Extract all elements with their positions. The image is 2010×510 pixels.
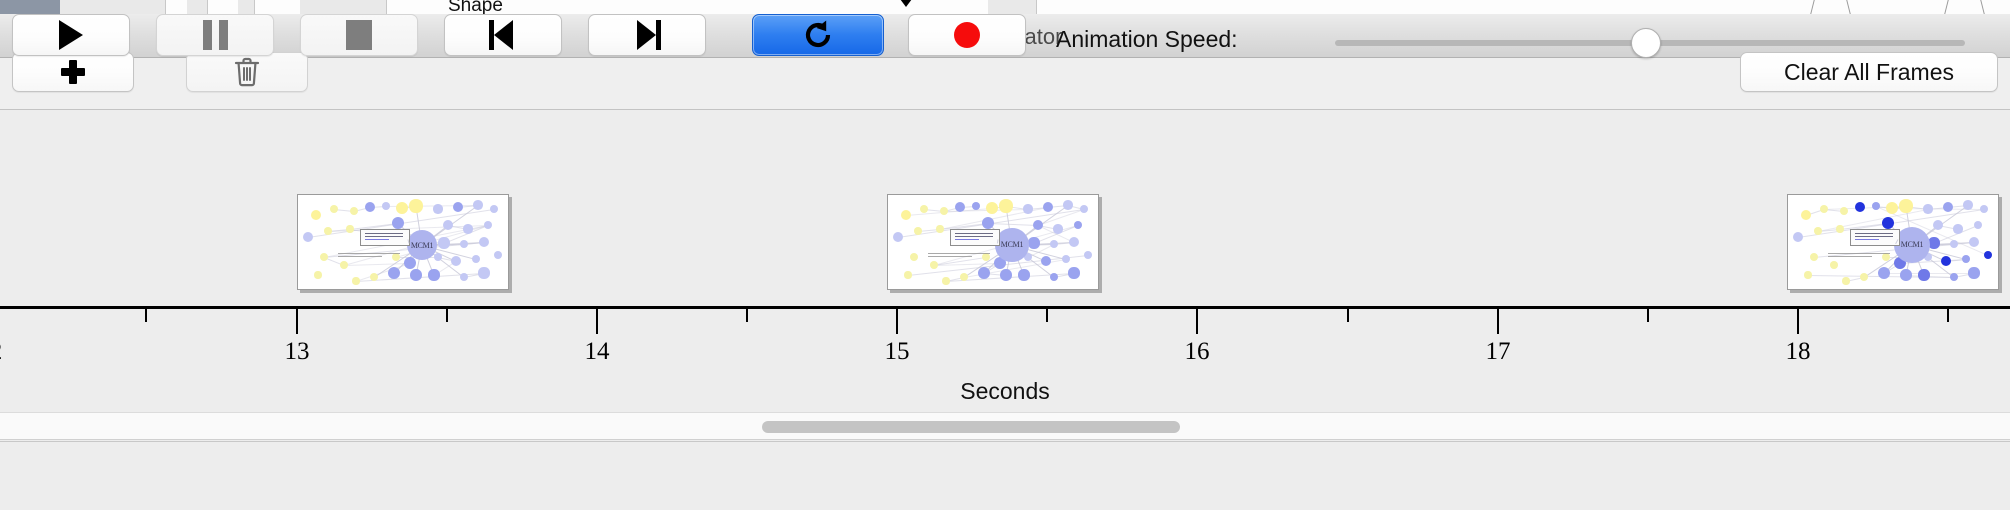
graph-node (942, 277, 949, 284)
graph-node (311, 210, 321, 220)
graph-node (1084, 251, 1092, 259)
graph-hub-label: MCM1 (1001, 240, 1023, 249)
graph-annotation-box (360, 229, 410, 246)
background-window-label: Shape (448, 0, 503, 15)
graph-node (982, 253, 990, 261)
graph-node (350, 207, 358, 215)
playback-control-bar (0, 441, 2010, 510)
graph-node (1050, 240, 1058, 248)
graph-node (1950, 273, 1958, 281)
ruler-tick-label: 16 (1185, 338, 1210, 366)
graph-node (1974, 221, 1983, 230)
graph-node (1950, 240, 1958, 248)
graph-node (340, 261, 348, 269)
graph-node (1886, 202, 1898, 214)
play-icon (59, 20, 83, 50)
ruler-tick-major (1196, 309, 1198, 334)
graph-node (1041, 256, 1051, 266)
ruler-tick-minor (446, 309, 448, 322)
skip-forward-button[interactable] (588, 14, 706, 56)
graph-node (303, 232, 313, 242)
ruler-tick-minor (1347, 309, 1349, 322)
graph-node (1923, 204, 1932, 213)
graph-node (920, 205, 928, 213)
graph-node (1984, 251, 1992, 259)
graph-node (1882, 253, 1890, 261)
add-frame-button[interactable] (12, 52, 134, 92)
graph-node (1842, 277, 1849, 284)
graph-node (1933, 220, 1943, 230)
graph-node (1053, 224, 1062, 233)
graph-node (451, 256, 461, 266)
graph-node (1018, 269, 1029, 280)
graph-node (914, 227, 922, 235)
graph-node (1069, 237, 1080, 248)
graph-node (1899, 199, 1912, 212)
clear-all-frames-button[interactable]: Clear All Frames (1740, 52, 1998, 92)
graph-node (494, 251, 502, 259)
ruler-tick-label: 14 (585, 338, 610, 366)
stop-button[interactable] (300, 14, 418, 56)
graph-node (904, 271, 911, 278)
graph-node (410, 269, 422, 281)
graph-node (1980, 205, 1988, 213)
graph-node (893, 232, 903, 242)
graph-node (1062, 255, 1071, 264)
graph-node (388, 267, 400, 279)
ruler-tick-minor (145, 309, 147, 322)
ruler-tick-minor (1947, 309, 1949, 322)
graph-node (940, 207, 948, 215)
graph-node (1860, 273, 1868, 281)
delete-frame-button[interactable] (186, 52, 308, 92)
graph-node (460, 273, 468, 281)
ruler-tick-label: 15 (885, 338, 910, 366)
graph-node (1080, 205, 1088, 213)
graph-node (1836, 225, 1843, 232)
graph-node (324, 227, 332, 235)
ruler-tick-minor (1647, 309, 1649, 322)
graph-annotation-box (950, 229, 1000, 246)
record-icon (954, 22, 980, 48)
background-tab (0, 0, 60, 14)
clear-all-frames-label: Clear All Frames (1784, 59, 1954, 86)
graph-node (999, 199, 1012, 212)
loop-button[interactable] (752, 14, 884, 56)
graph-node (1793, 232, 1803, 242)
graph-annotation-box (1850, 229, 1900, 246)
graph-node (1918, 269, 1929, 280)
graph-node (1962, 255, 1971, 264)
keyframe-thumbnail[interactable]: MCM1 (1787, 194, 1999, 290)
graph-node (1840, 207, 1848, 215)
timeline-scrollbar[interactable] (0, 412, 2010, 440)
graph-node (428, 269, 439, 280)
axis-title: Seconds (0, 378, 2010, 405)
graph-node (346, 225, 353, 232)
graph-node (1063, 200, 1073, 210)
loop-icon (801, 18, 835, 52)
graph-node (438, 237, 449, 248)
graph-node (1068, 267, 1079, 278)
background-caret-icon (900, 0, 912, 7)
skip-back-button[interactable] (444, 14, 562, 56)
graph-node (1023, 204, 1032, 213)
graph-node (1872, 202, 1881, 211)
ruler-tick-major (896, 309, 898, 334)
pause-icon (203, 20, 228, 50)
graph-node (930, 261, 938, 269)
graph-node (370, 273, 378, 281)
graph-node (1074, 221, 1083, 230)
graph-node (1953, 224, 1962, 233)
graph-edge (988, 223, 1038, 226)
graph-node (1000, 269, 1012, 281)
timeline-panel[interactable]: 2131415161718 Seconds MCM1MCM1MCM1 (0, 110, 2010, 412)
graph-node (472, 255, 481, 264)
ruler-tick-label: 2 (0, 338, 2, 366)
plus-icon (60, 59, 86, 85)
ruler-tick-major (596, 309, 598, 334)
graph-caption-line (1828, 256, 1872, 257)
graph-node (901, 210, 911, 220)
graph-node (478, 267, 489, 278)
graph-node (1804, 271, 1811, 278)
graph-node (409, 199, 422, 212)
graph-node (396, 202, 408, 214)
graph-node (392, 253, 400, 261)
pause-button[interactable] (156, 14, 274, 56)
ruler-tick-label: 18 (1786, 338, 1811, 366)
keyframe-network-graph: MCM1 (298, 195, 508, 289)
ruler-tick-major (1797, 309, 1799, 334)
graph-node (960, 273, 968, 281)
timeline-ruler[interactable]: 2131415161718 Seconds (0, 306, 2010, 412)
graph-node (1855, 202, 1866, 213)
graph-hub-label: MCM1 (1901, 240, 1923, 249)
graph-node (460, 240, 468, 248)
keyframe-network-graph: MCM1 (1788, 195, 1998, 289)
graph-hub-node: MCM1 (407, 230, 437, 260)
graph-node (484, 221, 493, 230)
graph-node (352, 277, 359, 284)
graph-node (320, 253, 328, 261)
graph-hub-label: MCM1 (411, 241, 433, 250)
play-button[interactable] (12, 14, 130, 56)
graph-node (365, 202, 376, 213)
graph-node (1810, 253, 1818, 261)
graph-node (314, 271, 321, 278)
graph-node (433, 204, 442, 213)
slider-thumb[interactable] (1631, 28, 1661, 58)
keyframe-thumbnail[interactable]: MCM1 (887, 194, 1099, 290)
graph-node (1963, 200, 1973, 210)
ruler-baseline (0, 306, 2010, 309)
graph-node (1033, 220, 1043, 230)
graph-caption-line (338, 253, 400, 254)
record-button[interactable] (908, 14, 1026, 56)
graph-node (936, 225, 943, 232)
skip-back-icon (489, 20, 517, 50)
animation-speed-slider[interactable] (1335, 30, 1965, 54)
keyframe-thumbnail[interactable]: MCM1 (297, 194, 509, 290)
ruler-tick-major (296, 309, 298, 334)
graph-node (1943, 202, 1953, 212)
timeline-scrollbar-thumb[interactable] (762, 421, 1180, 433)
graph-node (443, 220, 453, 230)
graph-node (1928, 237, 1939, 248)
ruler-tick-label: 17 (1486, 338, 1511, 366)
ruler-tick-major (1497, 309, 1499, 334)
graph-node (1900, 269, 1912, 281)
ruler-tick-label: 13 (285, 338, 310, 366)
animation-speed-label: Animation Speed: (1056, 26, 1238, 53)
graph-node (1801, 210, 1811, 220)
cyanimator-window: Shape CyAnimator Clear All Frames (0, 0, 2010, 510)
graph-node (1028, 237, 1039, 248)
background-window-strip: Shape (0, 0, 2010, 15)
graph-node (1878, 267, 1890, 279)
trash-icon (233, 57, 261, 87)
graph-caption-line (1828, 253, 1890, 254)
graph-node (1968, 267, 1979, 278)
skip-forward-icon (633, 20, 661, 50)
graph-caption-line (338, 256, 382, 257)
graph-node (1969, 237, 1980, 248)
keyframe-network-graph: MCM1 (888, 195, 1098, 289)
graph-node (986, 202, 998, 214)
graph-node (1814, 227, 1822, 235)
graph-node (1830, 261, 1838, 269)
graph-node (1050, 273, 1058, 281)
graph-node (382, 202, 391, 211)
graph-hub-node: MCM1 (995, 228, 1028, 261)
graph-node (978, 267, 990, 279)
graph-node (453, 202, 463, 212)
graph-node (910, 253, 918, 261)
ruler-tick-minor (1046, 309, 1048, 322)
stop-icon (346, 20, 372, 50)
graph-caption-line (928, 253, 990, 254)
graph-node (463, 224, 472, 233)
graph-node (1820, 205, 1828, 213)
graph-node (479, 237, 490, 248)
graph-node (1941, 256, 1951, 266)
graph-node (1043, 202, 1053, 212)
ruler-tick-minor (746, 309, 748, 322)
graph-node (473, 200, 483, 210)
graph-caption-line (928, 256, 972, 257)
graph-node (330, 205, 338, 213)
graph-node (490, 205, 498, 213)
